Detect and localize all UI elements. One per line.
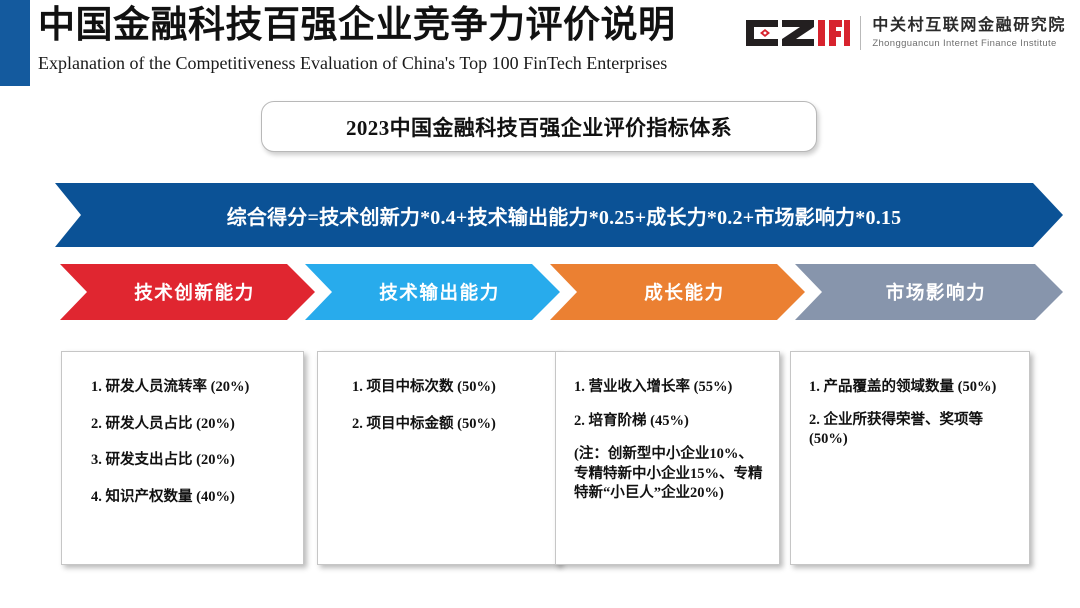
composite-score-formula-text: 综合得分=技术创新力*0.4+技术输出能力*0.25+成长力*0.2+市场影响力… — [217, 201, 902, 230]
header-accent-bar — [0, 0, 30, 86]
page-title-en: Explanation of the Competitiveness Evalu… — [38, 50, 676, 76]
pillar-label: 成长能力 — [630, 279, 724, 305]
composite-score-formula-banner: 综合得分=技术创新力*0.4+技术输出能力*0.25+成长力*0.2+市场影响力… — [55, 183, 1063, 247]
pillar-chevron-growth: 成长能力 — [550, 264, 805, 320]
logo-name-en: Zhongguancun Internet Finance Institute — [872, 39, 1066, 49]
institute-logo: 中关村互联网金融研究院 Zhongguancun Internet Financ… — [744, 12, 1066, 54]
logo-name-cn: 中关村互联网金融研究院 — [872, 18, 1066, 34]
card-line: 1. 研发人员流转率 (20%) — [78, 378, 291, 398]
pillar-chevron-tech-innovation: 技术创新能力 — [60, 264, 315, 320]
detail-card-growth: 1. 营业收入增长率 (55%) 2. 培育阶梯 (45%) (注：创新型中小企… — [555, 351, 780, 565]
logo-text-block: 中关村互联网金融研究院 Zhongguancun Internet Financ… — [872, 18, 1066, 49]
card-line: 2. 培育阶梯 (45%) — [572, 412, 767, 432]
card-line-note: (注：创新型中小企业10%、专精特新中小企业15%、专精特新“小巨人”企业20%… — [572, 445, 767, 504]
pillar-label: 技术输出能力 — [365, 279, 500, 305]
logo-divider — [860, 16, 861, 50]
card-line: 1. 项目中标次数 (50%) — [334, 378, 547, 398]
pillar-label: 市场影响力 — [872, 279, 987, 305]
czifi-logo-icon — [744, 18, 850, 48]
card-line: 2. 企业所获得荣誉、奖项等 (50%) — [807, 411, 1017, 450]
page-title-cn: 中国金融科技百强企业竞争力评价说明 — [38, 4, 676, 48]
card-line: 1. 产品覆盖的领域数量 (50%) — [807, 378, 1017, 398]
detail-card-tech-innovation: 1. 研发人员流转率 (20%) 2. 研发人员占比 (20%) 3. 研发支出… — [61, 351, 304, 565]
page-header: 中国金融科技百强企业竞争力评价说明 Explanation of the Com… — [0, 0, 1080, 88]
pillar-chevron-market-influence: 市场影响力 — [795, 264, 1063, 320]
card-line: 2. 研发人员占比 (20%) — [78, 415, 291, 435]
pillar-label: 技术创新能力 — [120, 279, 255, 305]
pillar-chevron-tech-output: 技术输出能力 — [305, 264, 560, 320]
card-line: 4. 知识产权数量 (40%) — [78, 488, 291, 508]
card-line: 1. 营业收入增长率 (55%) — [572, 378, 767, 398]
title-block: 中国金融科技百强企业竞争力评价说明 Explanation of the Com… — [38, 4, 676, 76]
card-line: 2. 项目中标金额 (50%) — [334, 415, 547, 435]
indicator-system-title-box: 2023中国金融科技百强企业评价指标体系 — [261, 101, 817, 152]
card-line: 3. 研发支出占比 (20%) — [78, 451, 291, 471]
detail-card-market-influence: 1. 产品覆盖的领域数量 (50%) 2. 企业所获得荣誉、奖项等 (50%) — [790, 351, 1030, 565]
indicator-system-title: 2023中国金融科技百强企业评价指标体系 — [346, 112, 732, 142]
detail-card-tech-output: 1. 项目中标次数 (50%) 2. 项目中标金额 (50%) — [317, 351, 560, 565]
